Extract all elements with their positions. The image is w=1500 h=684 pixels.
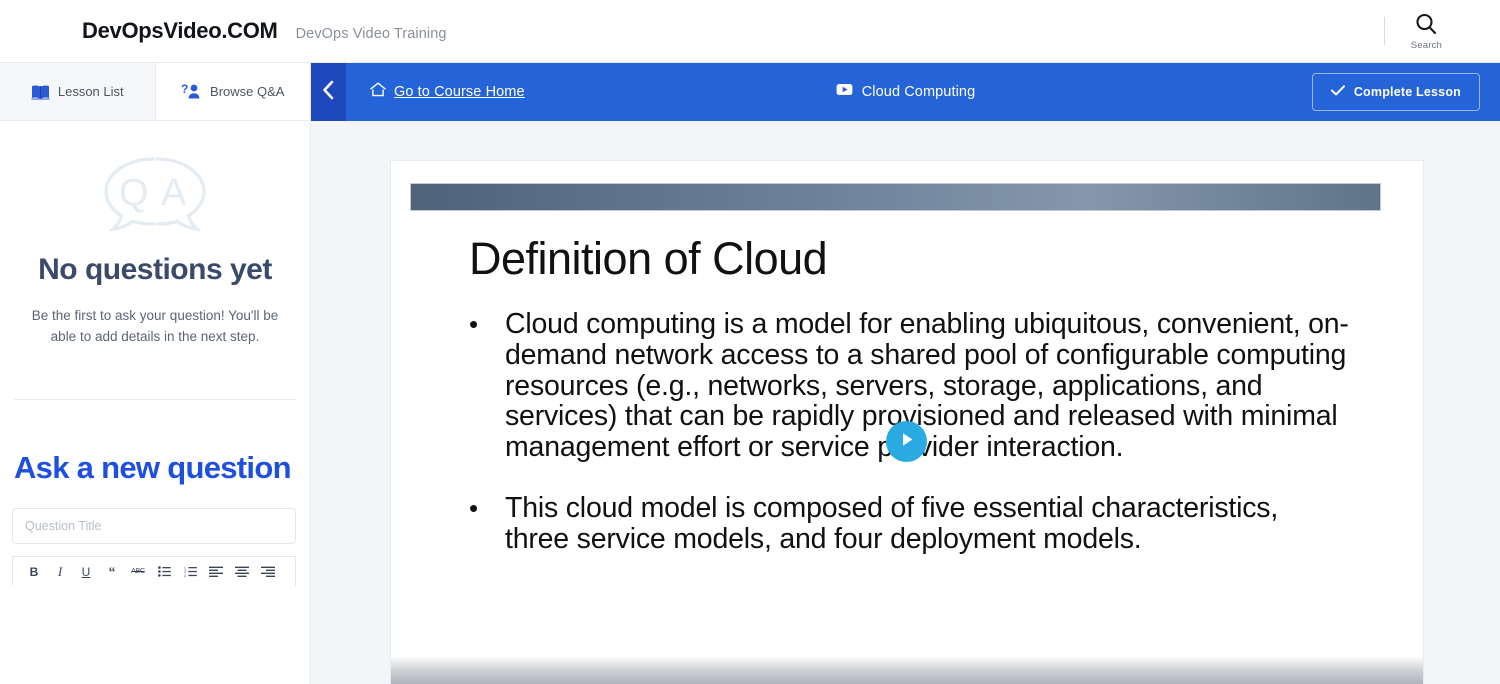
search-label: Search	[1411, 40, 1442, 51]
header-right: Search	[1384, 0, 1500, 63]
bullet-marker: •	[469, 493, 505, 555]
sidebar-divider	[14, 399, 297, 400]
ask-question-section: Ask a new question B I U “ ABC 123	[0, 450, 310, 586]
svg-text:Q: Q	[119, 172, 149, 214]
qa-empty-description: Be the first to ask your question! You'l…	[24, 305, 286, 347]
go-to-course-home-link[interactable]: Go to Course Home	[370, 82, 525, 102]
lesson-title: Cloud Computing	[862, 84, 976, 100]
question-person-icon: ?	[181, 83, 202, 100]
tab-browse-qa-label: Browse Q&A	[210, 84, 284, 99]
chevron-left-icon	[322, 80, 335, 105]
lesson-nav-bar: Go to Course Home Cloud Computing Comple…	[311, 63, 1500, 121]
video-icon	[836, 83, 853, 101]
check-icon	[1331, 85, 1345, 99]
italic-icon[interactable]: I	[47, 560, 73, 584]
numbered-list-icon[interactable]: 123	[177, 560, 203, 584]
home-icon	[370, 82, 386, 102]
slide-bullet-text: This cloud model is composed of five ess…	[505, 493, 1349, 555]
bullet-list-icon[interactable]	[151, 560, 177, 584]
book-icon	[31, 84, 50, 100]
back-button[interactable]	[311, 63, 346, 121]
slide-bullet-text: Cloud computing is a model for enabling …	[505, 309, 1349, 463]
brand[interactable]: DevOpsVideo.COM DevOps Video Training	[82, 18, 447, 44]
qa-empty-title: No questions yet	[0, 253, 310, 287]
sidebar: Lesson List ? Browse Q&A Q A No question…	[0, 63, 311, 684]
tab-lesson-list-label: Lesson List	[58, 84, 124, 99]
svg-text:3: 3	[184, 574, 186, 577]
slide-bullet: • This cloud model is composed of five e…	[469, 493, 1349, 555]
blockquote-icon[interactable]: “	[99, 560, 125, 584]
editor-toolbar: B I U “ ABC 123	[12, 556, 296, 586]
bold-icon[interactable]: B	[21, 560, 47, 584]
header-divider	[1384, 17, 1385, 45]
align-center-icon[interactable]	[229, 560, 255, 584]
sidebar-tabs: Lesson List ? Browse Q&A	[0, 63, 310, 121]
qa-empty-state: Q A No questions yet Be the first to ask…	[0, 121, 310, 400]
align-right-icon[interactable]	[255, 560, 281, 584]
content-area: Definition of Cloud • Cloud computing is…	[311, 121, 1500, 684]
qa-speech-bubbles-icon: Q A	[0, 151, 310, 239]
ask-question-title: Ask a new question	[14, 450, 298, 486]
search-icon	[1413, 11, 1439, 37]
play-icon	[899, 431, 915, 453]
tab-lesson-list[interactable]: Lesson List	[0, 63, 156, 120]
strikethrough-icon[interactable]: ABC	[125, 560, 151, 584]
align-left-icon[interactable]	[203, 560, 229, 584]
brand-subtitle: DevOps Video Training	[296, 26, 447, 42]
complete-lesson-button[interactable]: Complete Lesson	[1312, 73, 1480, 111]
tab-browse-qa[interactable]: ? Browse Q&A	[156, 63, 311, 120]
svg-text:?: ?	[181, 83, 188, 96]
complete-lesson-label: Complete Lesson	[1354, 85, 1461, 99]
underline-icon[interactable]: U	[73, 560, 99, 584]
slide-heading: Definition of Cloud	[469, 233, 827, 285]
brand-title: DevOpsVideo.COM	[82, 18, 278, 44]
question-title-input[interactable]	[12, 508, 296, 544]
player-controls-overlay[interactable]	[391, 656, 1423, 684]
go-to-course-home-label: Go to Course Home	[394, 84, 525, 100]
video-player[interactable]: Definition of Cloud • Cloud computing is…	[391, 161, 1423, 684]
svg-text:A: A	[161, 172, 187, 214]
search-button[interactable]: Search	[1411, 11, 1442, 51]
play-button[interactable]	[886, 421, 927, 462]
slide-header-bar	[410, 183, 1381, 211]
top-header: DevOpsVideo.COM DevOps Video Training Se…	[0, 0, 1500, 63]
bullet-marker: •	[469, 309, 505, 463]
